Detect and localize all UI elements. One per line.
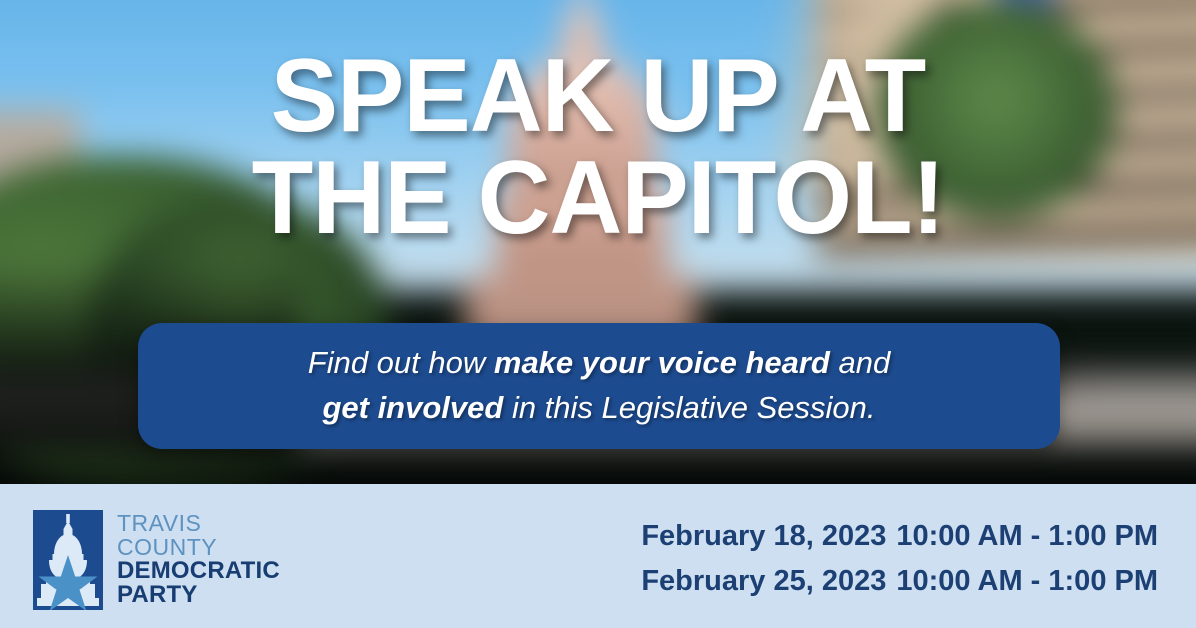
event-date-2: February 25, 2023 [641, 565, 886, 597]
organization-logo: TRAVIS COUNTY DEMOCRATIC PARTY [31, 508, 280, 612]
logo-line-travis: TRAVIS [117, 512, 280, 535]
poster-headline: SPEAK UP AT THE CAPITOL! [18, 46, 1178, 250]
event-poster: SPEAK UP AT THE CAPITOL! Find out how ma… [0, 0, 1196, 628]
event-time-1: 10:00 AM - 1:00 PM [896, 520, 1158, 552]
headline-line-2: THE CAPITOL! [18, 148, 1178, 250]
callout-line-2: get involved in this Legislative Session… [322, 386, 875, 431]
callout-line-1-emphasis: make your voice heard [494, 345, 830, 380]
callout-line-2-emphasis: get involved [322, 390, 503, 425]
logo-line-party: PARTY [117, 583, 280, 607]
event-row-1: February 18, 202310:00 AM - 1:00 PM [641, 514, 1158, 559]
logo-line-county: COUNTY [117, 536, 280, 559]
logo-wordmark: TRAVIS COUNTY DEMOCRATIC PARTY [117, 512, 280, 608]
logo-line-democratic: DEMOCRATIC [117, 559, 280, 583]
headline-line-1: SPEAK UP AT [18, 46, 1178, 148]
callout-line-2-suffix: in this Legislative Session. [503, 390, 875, 425]
callout-line-1-suffix: and [830, 345, 890, 380]
callout-line-1: Find out how make your voice heard and [308, 341, 890, 386]
event-time-2: 10:00 AM - 1:00 PM [896, 565, 1158, 597]
callout-banner: Find out how make your voice heard and g… [138, 323, 1060, 449]
callout-line-1-prefix: Find out how [308, 345, 494, 380]
capitol-dome-star-icon [31, 508, 105, 612]
event-date-1: February 18, 2023 [641, 520, 886, 552]
event-schedule: February 18, 202310:00 AM - 1:00 PM Febr… [641, 514, 1158, 604]
event-row-2: February 25, 202310:00 AM - 1:00 PM [641, 559, 1158, 604]
